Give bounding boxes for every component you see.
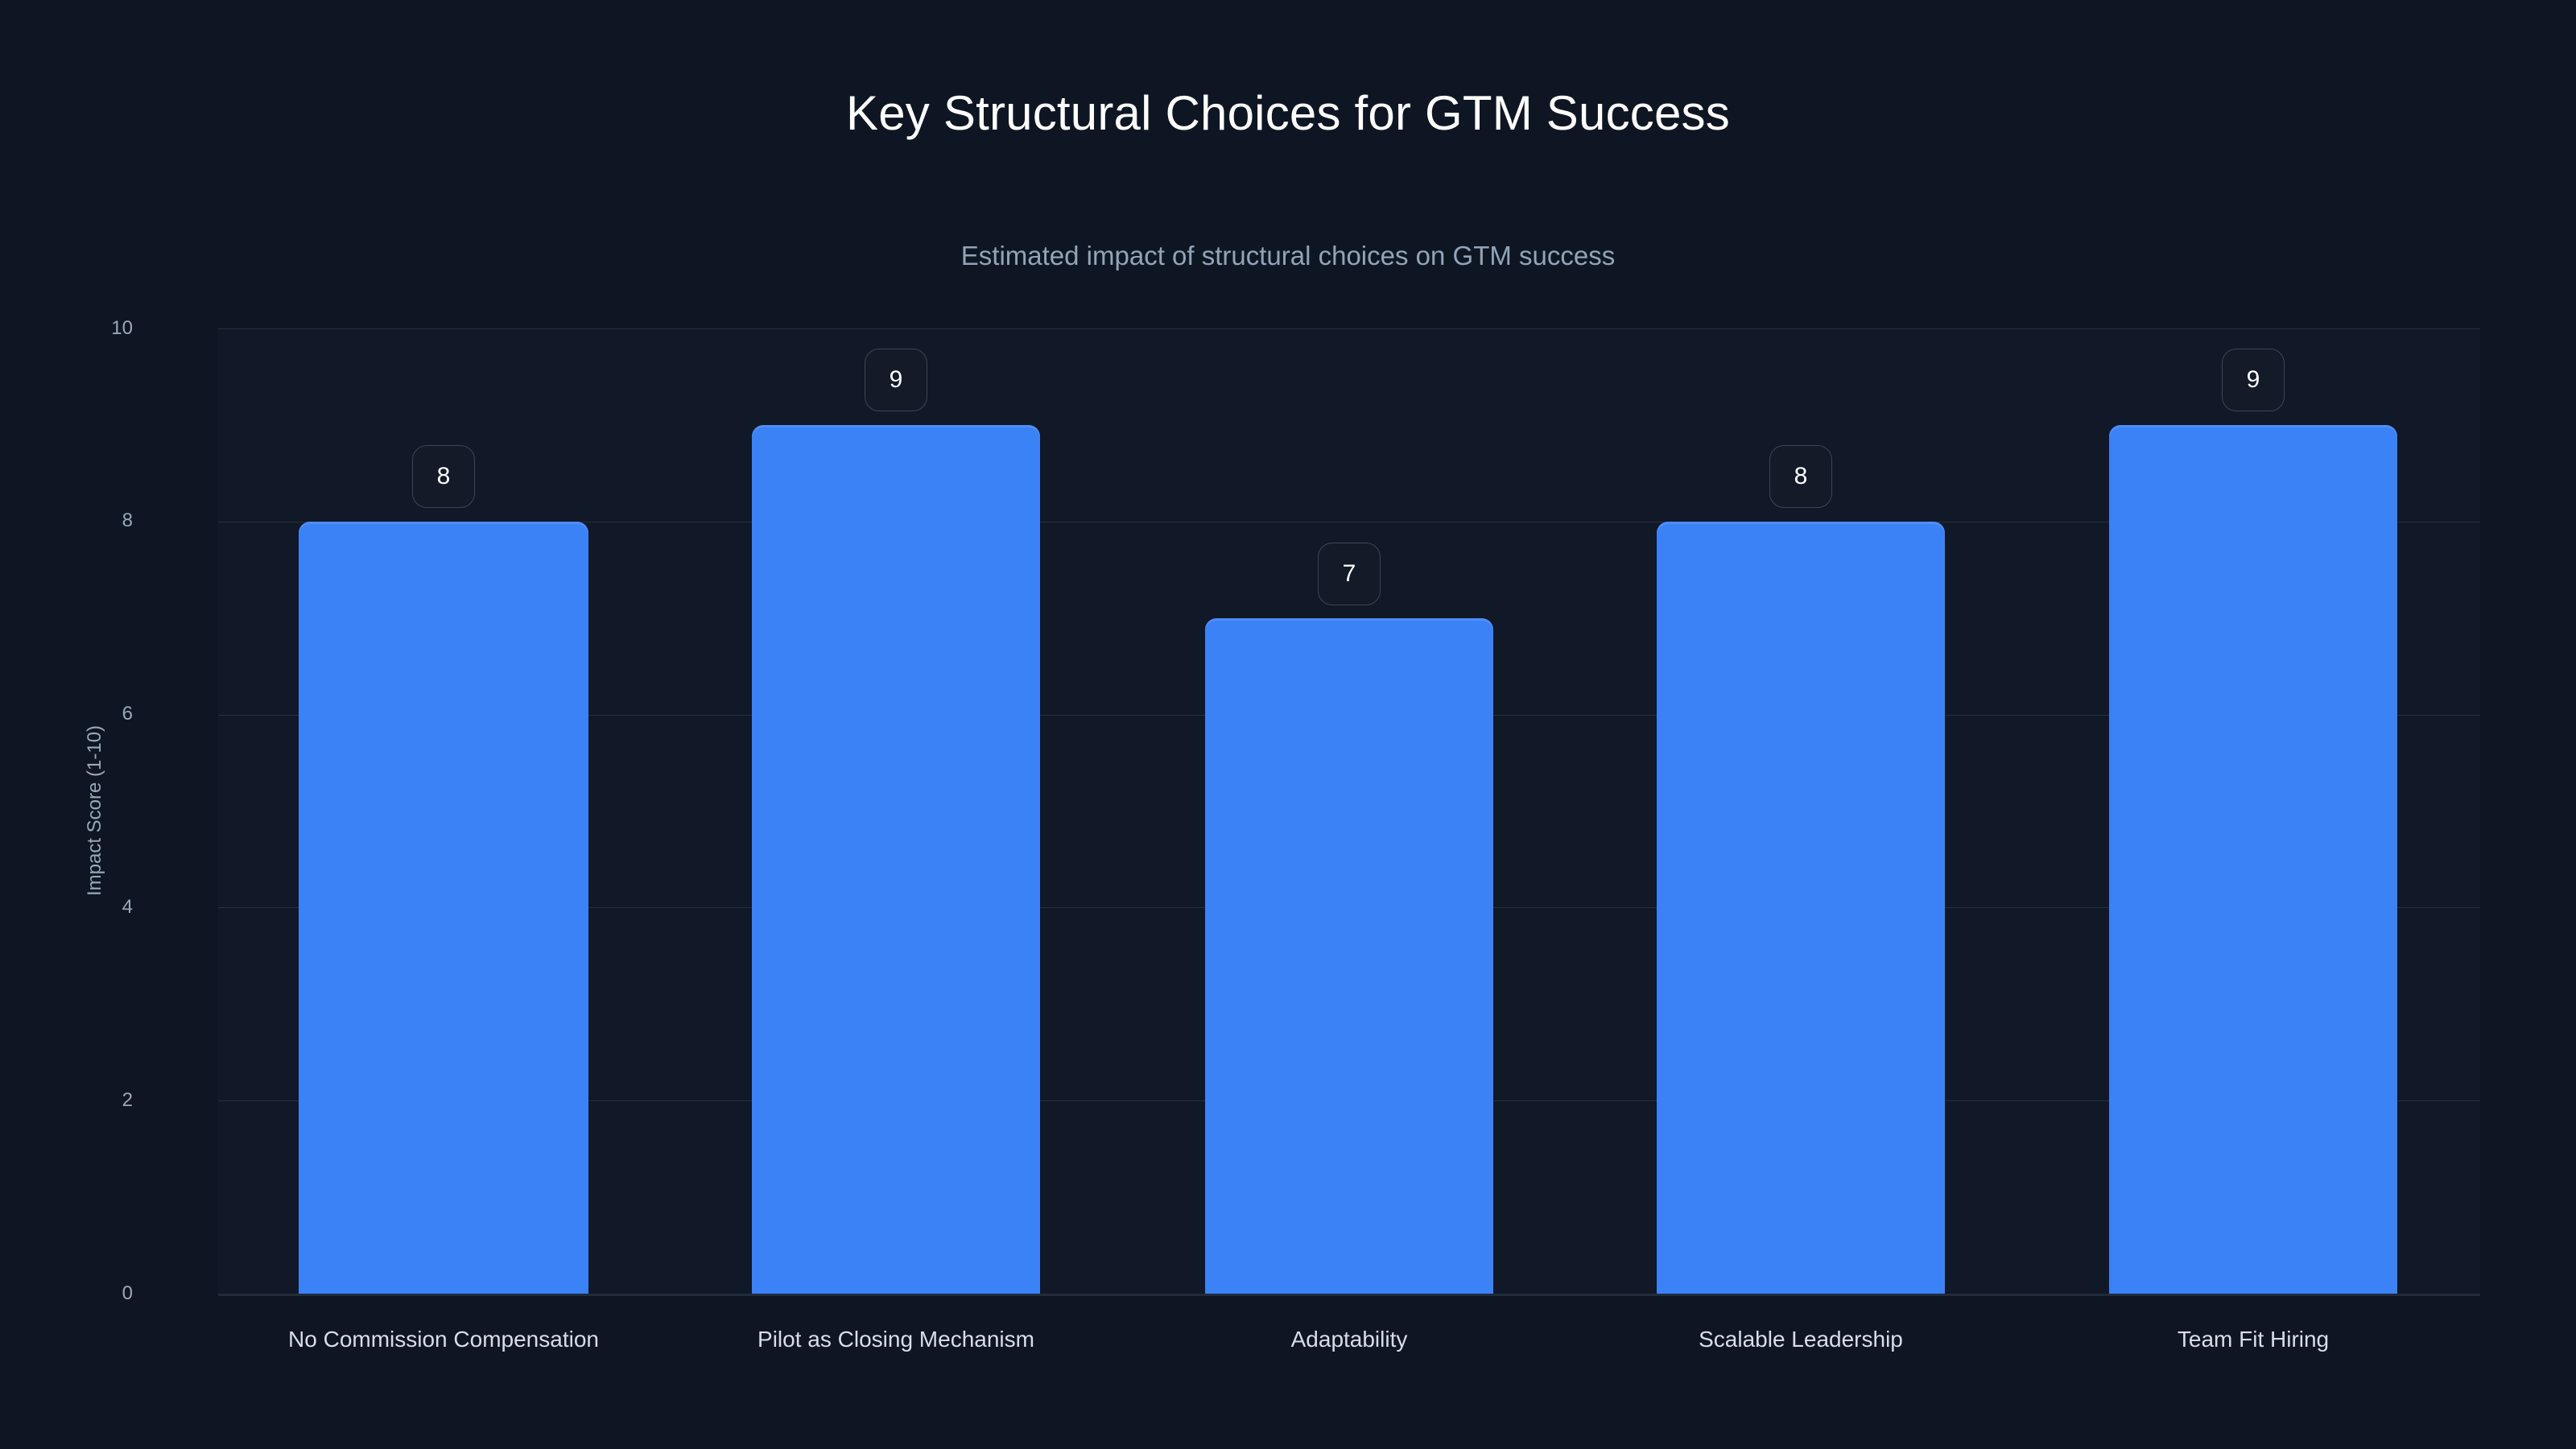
value-badge-team-fit-hiring: 9 bbox=[2222, 349, 2285, 411]
x-tick-label-pilot-as-closing-mechanism: Pilot as Closing Mechanism bbox=[758, 1327, 1034, 1352]
x-tick-label-adaptability: Adaptability bbox=[1291, 1327, 1408, 1352]
chart-subtitle: Estimated impact of structural choices o… bbox=[0, 242, 2576, 270]
x-tick-label-scalable-leadership: Scalable Leadership bbox=[1699, 1327, 1903, 1352]
y-tick-label-6: 6 bbox=[122, 703, 133, 725]
x-tick-label-no-commission-compensation: No Commission Compensation bbox=[288, 1327, 599, 1352]
value-badge-scalable-leadership: 8 bbox=[1769, 445, 1832, 508]
value-badge-no-commission-compensation: 8 bbox=[412, 445, 475, 508]
bar-pilot-as-closing-mechanism[interactable] bbox=[752, 425, 1040, 1294]
value-badge-adaptability: 7 bbox=[1318, 543, 1381, 605]
gridline-10 bbox=[218, 328, 2480, 329]
y-tick-label-0: 0 bbox=[122, 1282, 133, 1305]
bar-adaptability[interactable] bbox=[1205, 618, 1493, 1294]
bar-scalable-leadership[interactable] bbox=[1657, 522, 1945, 1294]
y-tick-label-4: 4 bbox=[122, 896, 133, 919]
y-tick-label-2: 2 bbox=[122, 1089, 133, 1112]
plot-area bbox=[218, 328, 2480, 1294]
y-axis-title: Impact Score (1-10) bbox=[84, 725, 106, 896]
x-tick-label-team-fit-hiring: Team Fit Hiring bbox=[2178, 1327, 2329, 1352]
value-badge-pilot-as-closing-mechanism: 9 bbox=[865, 349, 927, 411]
x-axis-line bbox=[218, 1294, 2480, 1296]
bar-chart: Key Structural Choices for GTM Success E… bbox=[0, 0, 2576, 1449]
bar-team-fit-hiring[interactable] bbox=[2109, 425, 2397, 1294]
page-title: Key Structural Choices for GTM Success bbox=[0, 87, 2576, 140]
y-tick-label-8: 8 bbox=[122, 510, 133, 532]
y-tick-label-10: 10 bbox=[111, 317, 133, 340]
bar-no-commission-compensation[interactable] bbox=[299, 522, 588, 1294]
